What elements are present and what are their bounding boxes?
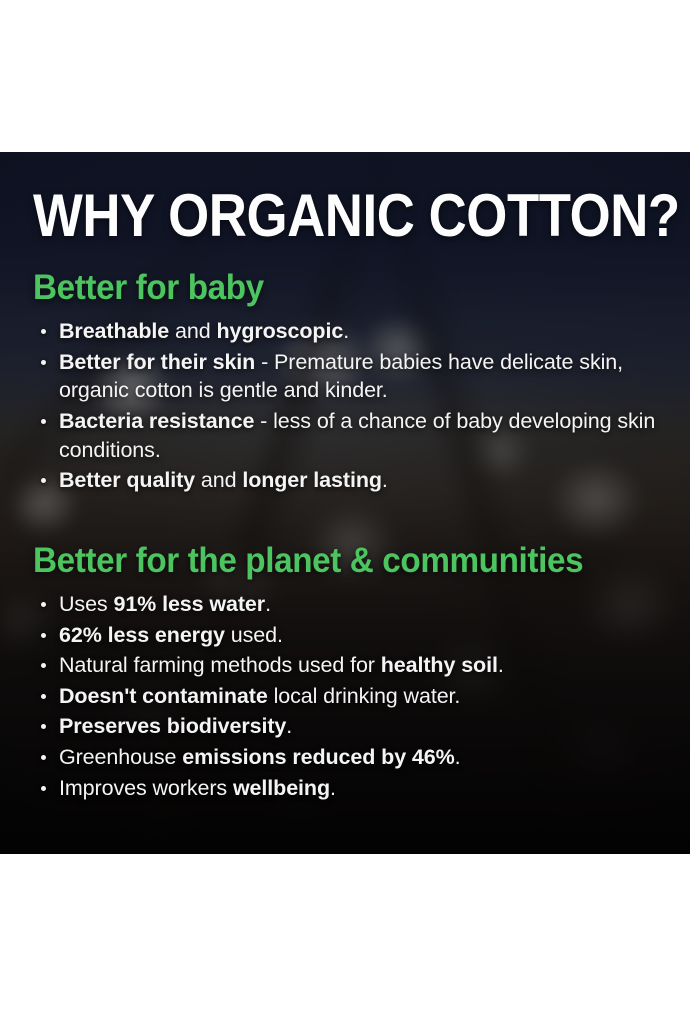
list-item-emphasis: wellbeing	[233, 776, 330, 800]
list-item: Bacteria resistance - less of a chance o…	[33, 407, 660, 464]
list-item-emphasis: 91% less water	[113, 592, 265, 616]
list-item-text: Uses	[59, 592, 113, 616]
list-item-text: and	[195, 468, 242, 492]
list-item-emphasis: Breathable	[59, 319, 169, 343]
infographic-content: WHY ORGANIC COTTON? Better for baby Brea…	[0, 152, 690, 854]
list-item-emphasis: Better quality	[59, 468, 195, 492]
list-item-emphasis: Preserves biodiversity	[59, 714, 286, 738]
list-item-text: used.	[225, 623, 283, 647]
list-item: Better for their skin - Premature babies…	[33, 348, 660, 405]
list-item-emphasis: 62% less energy	[59, 623, 225, 647]
list-item-text: Improves workers	[59, 776, 233, 800]
list-item-text: .	[498, 653, 504, 677]
list-item: Greenhouse emissions reduced by 46%.	[33, 743, 660, 772]
list-item-text: .	[265, 592, 271, 616]
section-better-for-baby: Better for baby Breathable and hygroscop…	[33, 268, 660, 495]
list-item-text: .	[330, 776, 336, 800]
list-item-emphasis: Bacteria resistance	[59, 409, 254, 433]
list-item-text: .	[382, 468, 388, 492]
list-item: Doesn't contaminate local drinking water…	[33, 682, 660, 711]
list-item-emphasis: longer lasting	[242, 468, 382, 492]
list-item: Preserves biodiversity.	[33, 712, 660, 741]
list-item-emphasis: Doesn't contaminate	[59, 684, 268, 708]
list-item-text: .	[343, 319, 349, 343]
list-item: Uses 91% less water.	[33, 590, 660, 619]
list-item-text: and	[169, 319, 216, 343]
list-item: Better quality and longer lasting.	[33, 466, 660, 495]
page-root: WHY ORGANIC COTTON? Better for baby Brea…	[0, 0, 690, 1024]
page-title: WHY ORGANIC COTTON?	[33, 186, 585, 246]
section-better-for-planet: Better for the planet & communities Uses…	[33, 541, 660, 802]
list-item: Natural farming methods used for healthy…	[33, 651, 660, 680]
infographic-card: WHY ORGANIC COTTON? Better for baby Brea…	[0, 152, 690, 854]
bullet-list-better-for-baby: Breathable and hygroscopic.Better for th…	[33, 317, 660, 495]
section-heading-better-for-planet: Better for the planet & communities	[33, 541, 629, 580]
list-item-text: .	[286, 714, 292, 738]
list-item-emphasis: emissions reduced by 46%	[182, 745, 454, 769]
bullet-list-better-for-planet: Uses 91% less water.62% less energy used…	[33, 590, 660, 802]
list-item-text: local drinking water.	[268, 684, 461, 708]
section-heading-better-for-baby: Better for baby	[33, 268, 629, 307]
list-item: 62% less energy used.	[33, 621, 660, 650]
list-item-emphasis: healthy soil	[381, 653, 498, 677]
list-item-text: .	[455, 745, 461, 769]
list-item: Improves workers wellbeing.	[33, 774, 660, 803]
list-item-text: Natural farming methods used for	[59, 653, 381, 677]
list-item-emphasis: Better for their skin	[59, 350, 255, 374]
list-item: Breathable and hygroscopic.	[33, 317, 660, 346]
list-item-text: Greenhouse	[59, 745, 182, 769]
list-item-emphasis: hygroscopic	[216, 319, 343, 343]
